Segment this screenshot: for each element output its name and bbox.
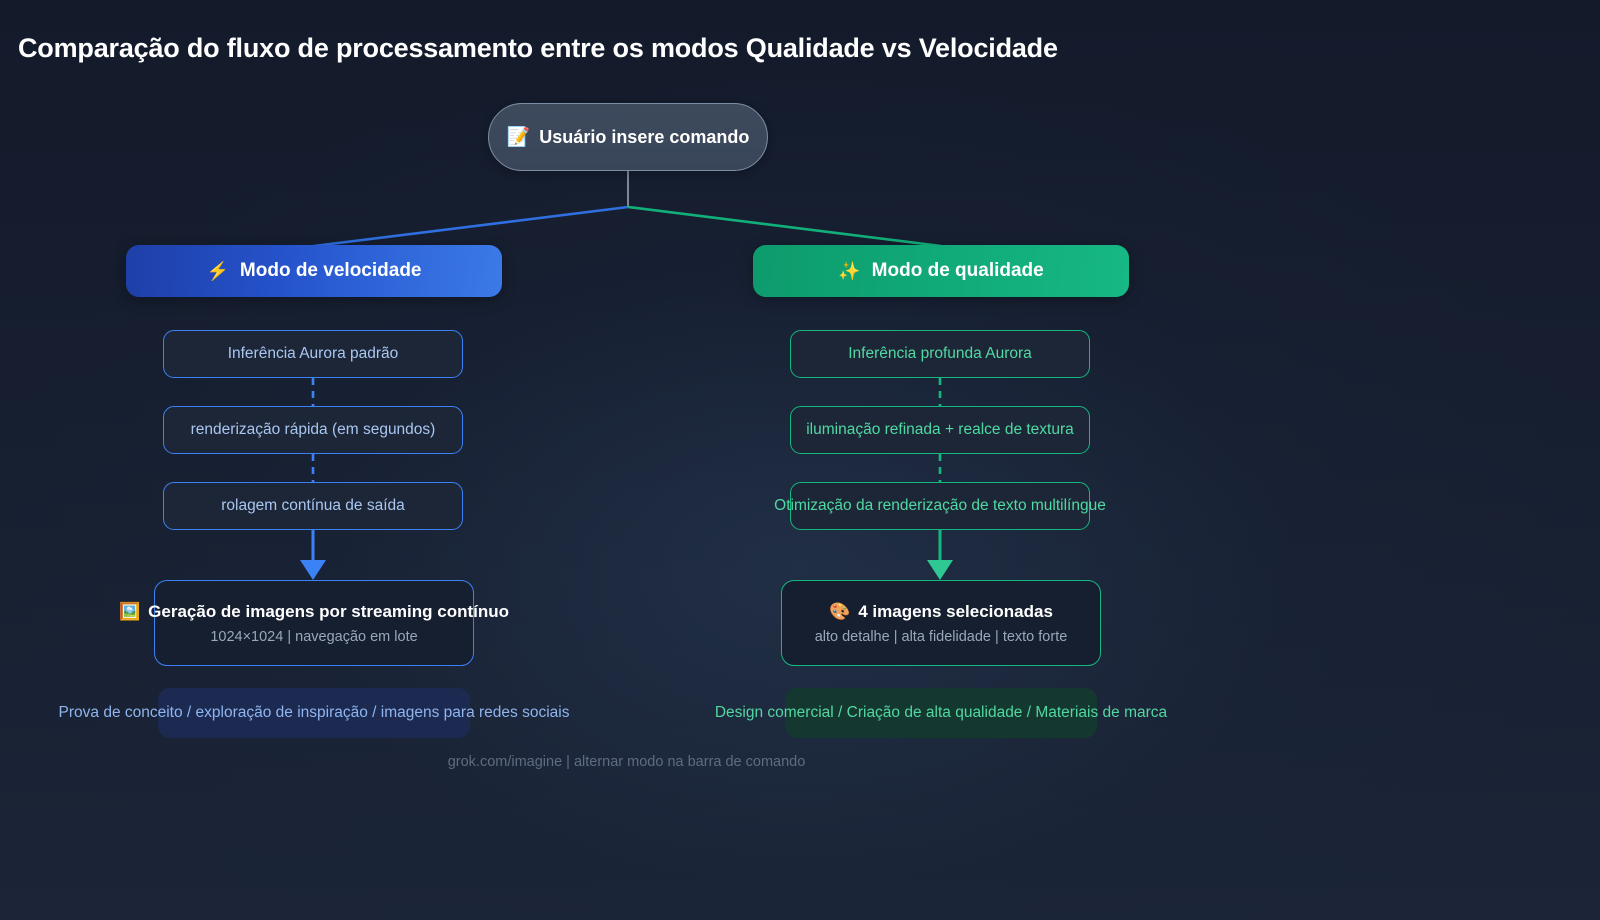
quality-step-1-label: Inferência profunda Aurora [848, 346, 1032, 362]
speed-result-subtitle: 1024×1024 | navegação em lote [210, 629, 417, 645]
sparkles-icon: ✨ [838, 262, 860, 280]
quality-result-title: 4 imagens selecionadas [858, 602, 1053, 622]
speed-result-title-row: 🖼️ Geração de imagens por streaming cont… [119, 602, 509, 622]
speed-result-box[interactable]: 🖼️ Geração de imagens por streaming cont… [154, 580, 474, 666]
speed-result-title: Geração de imagens por streaming contínu… [148, 602, 509, 622]
connector-to-speed [314, 207, 628, 246]
memo-icon: 📝 [507, 128, 531, 147]
quality-step-2[interactable]: iluminação refinada + realce de textura [790, 406, 1090, 454]
footer-note: grok.com/imagine | alternar modo na barr… [0, 754, 1253, 770]
connector-lines [0, 0, 1600, 920]
page-title: Comparação do fluxo de processamento ent… [18, 33, 1058, 64]
quality-step-3[interactable]: Otimização da renderização de texto mult… [790, 482, 1090, 530]
root-node[interactable]: 📝 Usuário insere comando [488, 103, 768, 171]
artist-palette-icon: 🎨 [829, 603, 850, 620]
mode-header-speed-label: Modo de velocidade [240, 260, 422, 282]
mode-header-quality-label: Modo de qualidade [872, 260, 1044, 282]
speed-step-2[interactable]: renderização rápida (em segundos) [163, 406, 463, 454]
background-gradient [0, 0, 1600, 920]
quality-result-box[interactable]: 🎨 4 imagens selecionadas alto detalhe | … [781, 580, 1101, 666]
speed-step-3-label: rolagem contínua de saída [221, 498, 405, 514]
arrowhead-quality [927, 560, 953, 580]
mode-header-quality[interactable]: ✨ Modo de qualidade [753, 245, 1129, 297]
speed-usecase-label: Prova de conceito / exploração de inspir… [59, 705, 570, 721]
arrowhead-speed [300, 560, 326, 580]
mode-header-speed[interactable]: ⚡ Modo de velocidade [126, 245, 502, 297]
quality-usecase-bar[interactable]: Design comercial / Criação de alta quali… [785, 688, 1097, 738]
quality-usecase-label: Design comercial / Criação de alta quali… [715, 705, 1167, 721]
quality-step-1[interactable]: Inferência profunda Aurora [790, 330, 1090, 378]
speed-step-1-label: Inferência Aurora padrão [228, 346, 399, 362]
root-node-label: Usuário insere comando [539, 127, 749, 148]
quality-result-title-row: 🎨 4 imagens selecionadas [829, 602, 1053, 622]
framed-picture-icon: 🖼️ [119, 603, 140, 620]
speed-step-2-label: renderização rápida (em segundos) [191, 422, 436, 438]
connector-to-quality [628, 207, 941, 246]
lightning-bolt-icon: ⚡ [206, 262, 228, 280]
speed-step-3[interactable]: rolagem contínua de saída [163, 482, 463, 530]
speed-usecase-bar[interactable]: Prova de conceito / exploração de inspir… [158, 688, 470, 738]
quality-step-2-label: iluminação refinada + realce de textura [806, 422, 1074, 438]
quality-result-subtitle: alto detalhe | alta fidelidade | texto f… [815, 629, 1068, 645]
quality-step-3-label: Otimização da renderização de texto mult… [774, 498, 1106, 514]
speed-step-1[interactable]: Inferência Aurora padrão [163, 330, 463, 378]
